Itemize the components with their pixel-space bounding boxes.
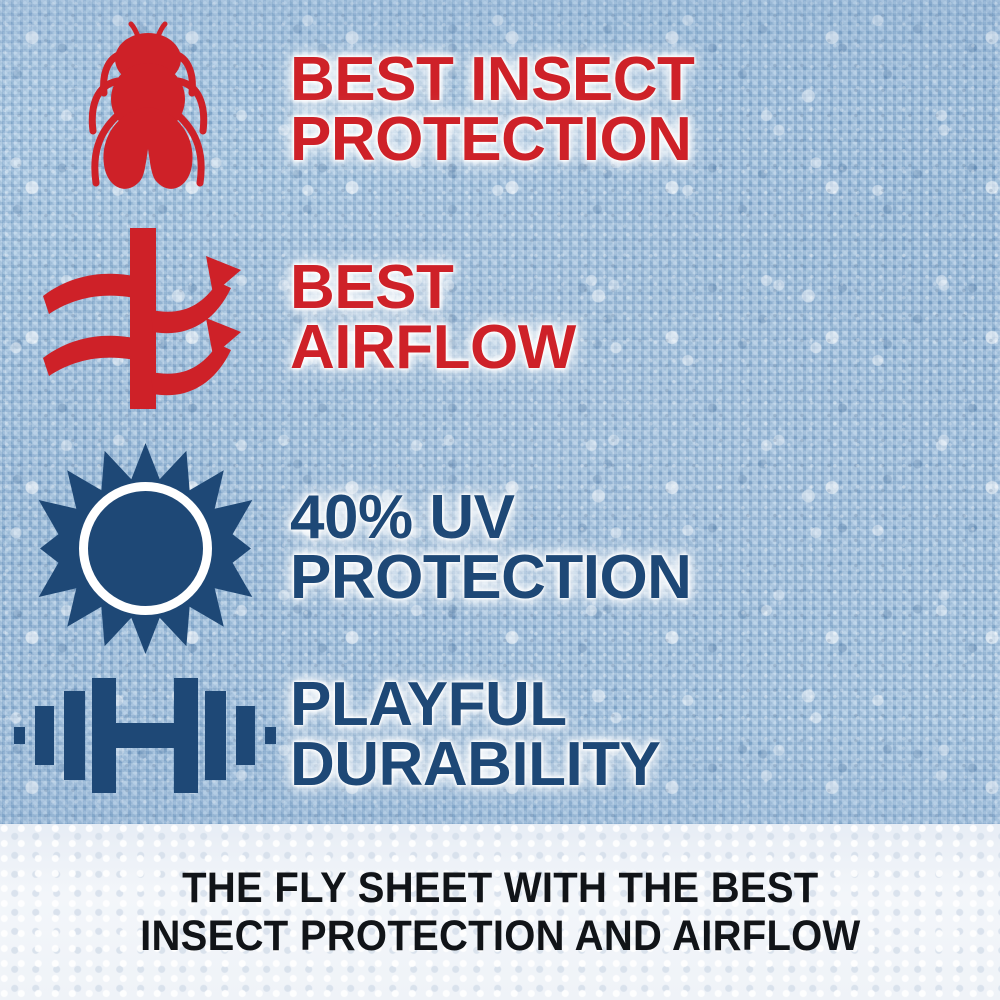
feature-row-uv-protection: 40% UV PROTECTION bbox=[0, 438, 1000, 658]
airflow-through-barrier-icon bbox=[35, 226, 255, 411]
caption-band: THE FLY SHEET WITH THE BEST INSECT PROTE… bbox=[0, 824, 1000, 1000]
icon-cell-durability bbox=[0, 670, 290, 800]
text-cell-durability: PLAYFUL DURABILITY bbox=[290, 675, 1000, 794]
caption-text: THE FLY SHEET WITH THE BEST INSECT PROTE… bbox=[140, 864, 860, 960]
fly-icon bbox=[60, 15, 230, 205]
feature-row-airflow: BEST AIRFLOW bbox=[0, 218, 1000, 418]
feature-label-airflow: BEST AIRFLOW bbox=[290, 258, 1000, 377]
feature-label-uv-protection: 40% UV PROTECTION bbox=[290, 488, 1000, 607]
text-cell-uv: 40% UV PROTECTION bbox=[290, 488, 1000, 607]
feature-label-durability: PLAYFUL DURABILITY bbox=[290, 675, 1000, 794]
dumbbell-icon bbox=[14, 670, 276, 800]
text-cell-insect: BEST INSECT PROTECTION bbox=[290, 50, 1000, 169]
icon-cell-airflow bbox=[0, 226, 290, 411]
icon-cell-uv bbox=[0, 441, 290, 656]
product-feature-poster: BEST INSECT PROTECTION BEST AIRFLOW bbox=[0, 0, 1000, 1000]
sun-icon bbox=[38, 441, 253, 656]
icon-cell-insect bbox=[0, 15, 290, 205]
text-cell-airflow: BEST AIRFLOW bbox=[290, 258, 1000, 377]
feature-row-durability: PLAYFUL DURABILITY bbox=[0, 650, 1000, 820]
feature-label-insect-protection: BEST INSECT PROTECTION bbox=[290, 50, 1000, 169]
feature-row-insect-protection: BEST INSECT PROTECTION bbox=[0, 10, 1000, 210]
